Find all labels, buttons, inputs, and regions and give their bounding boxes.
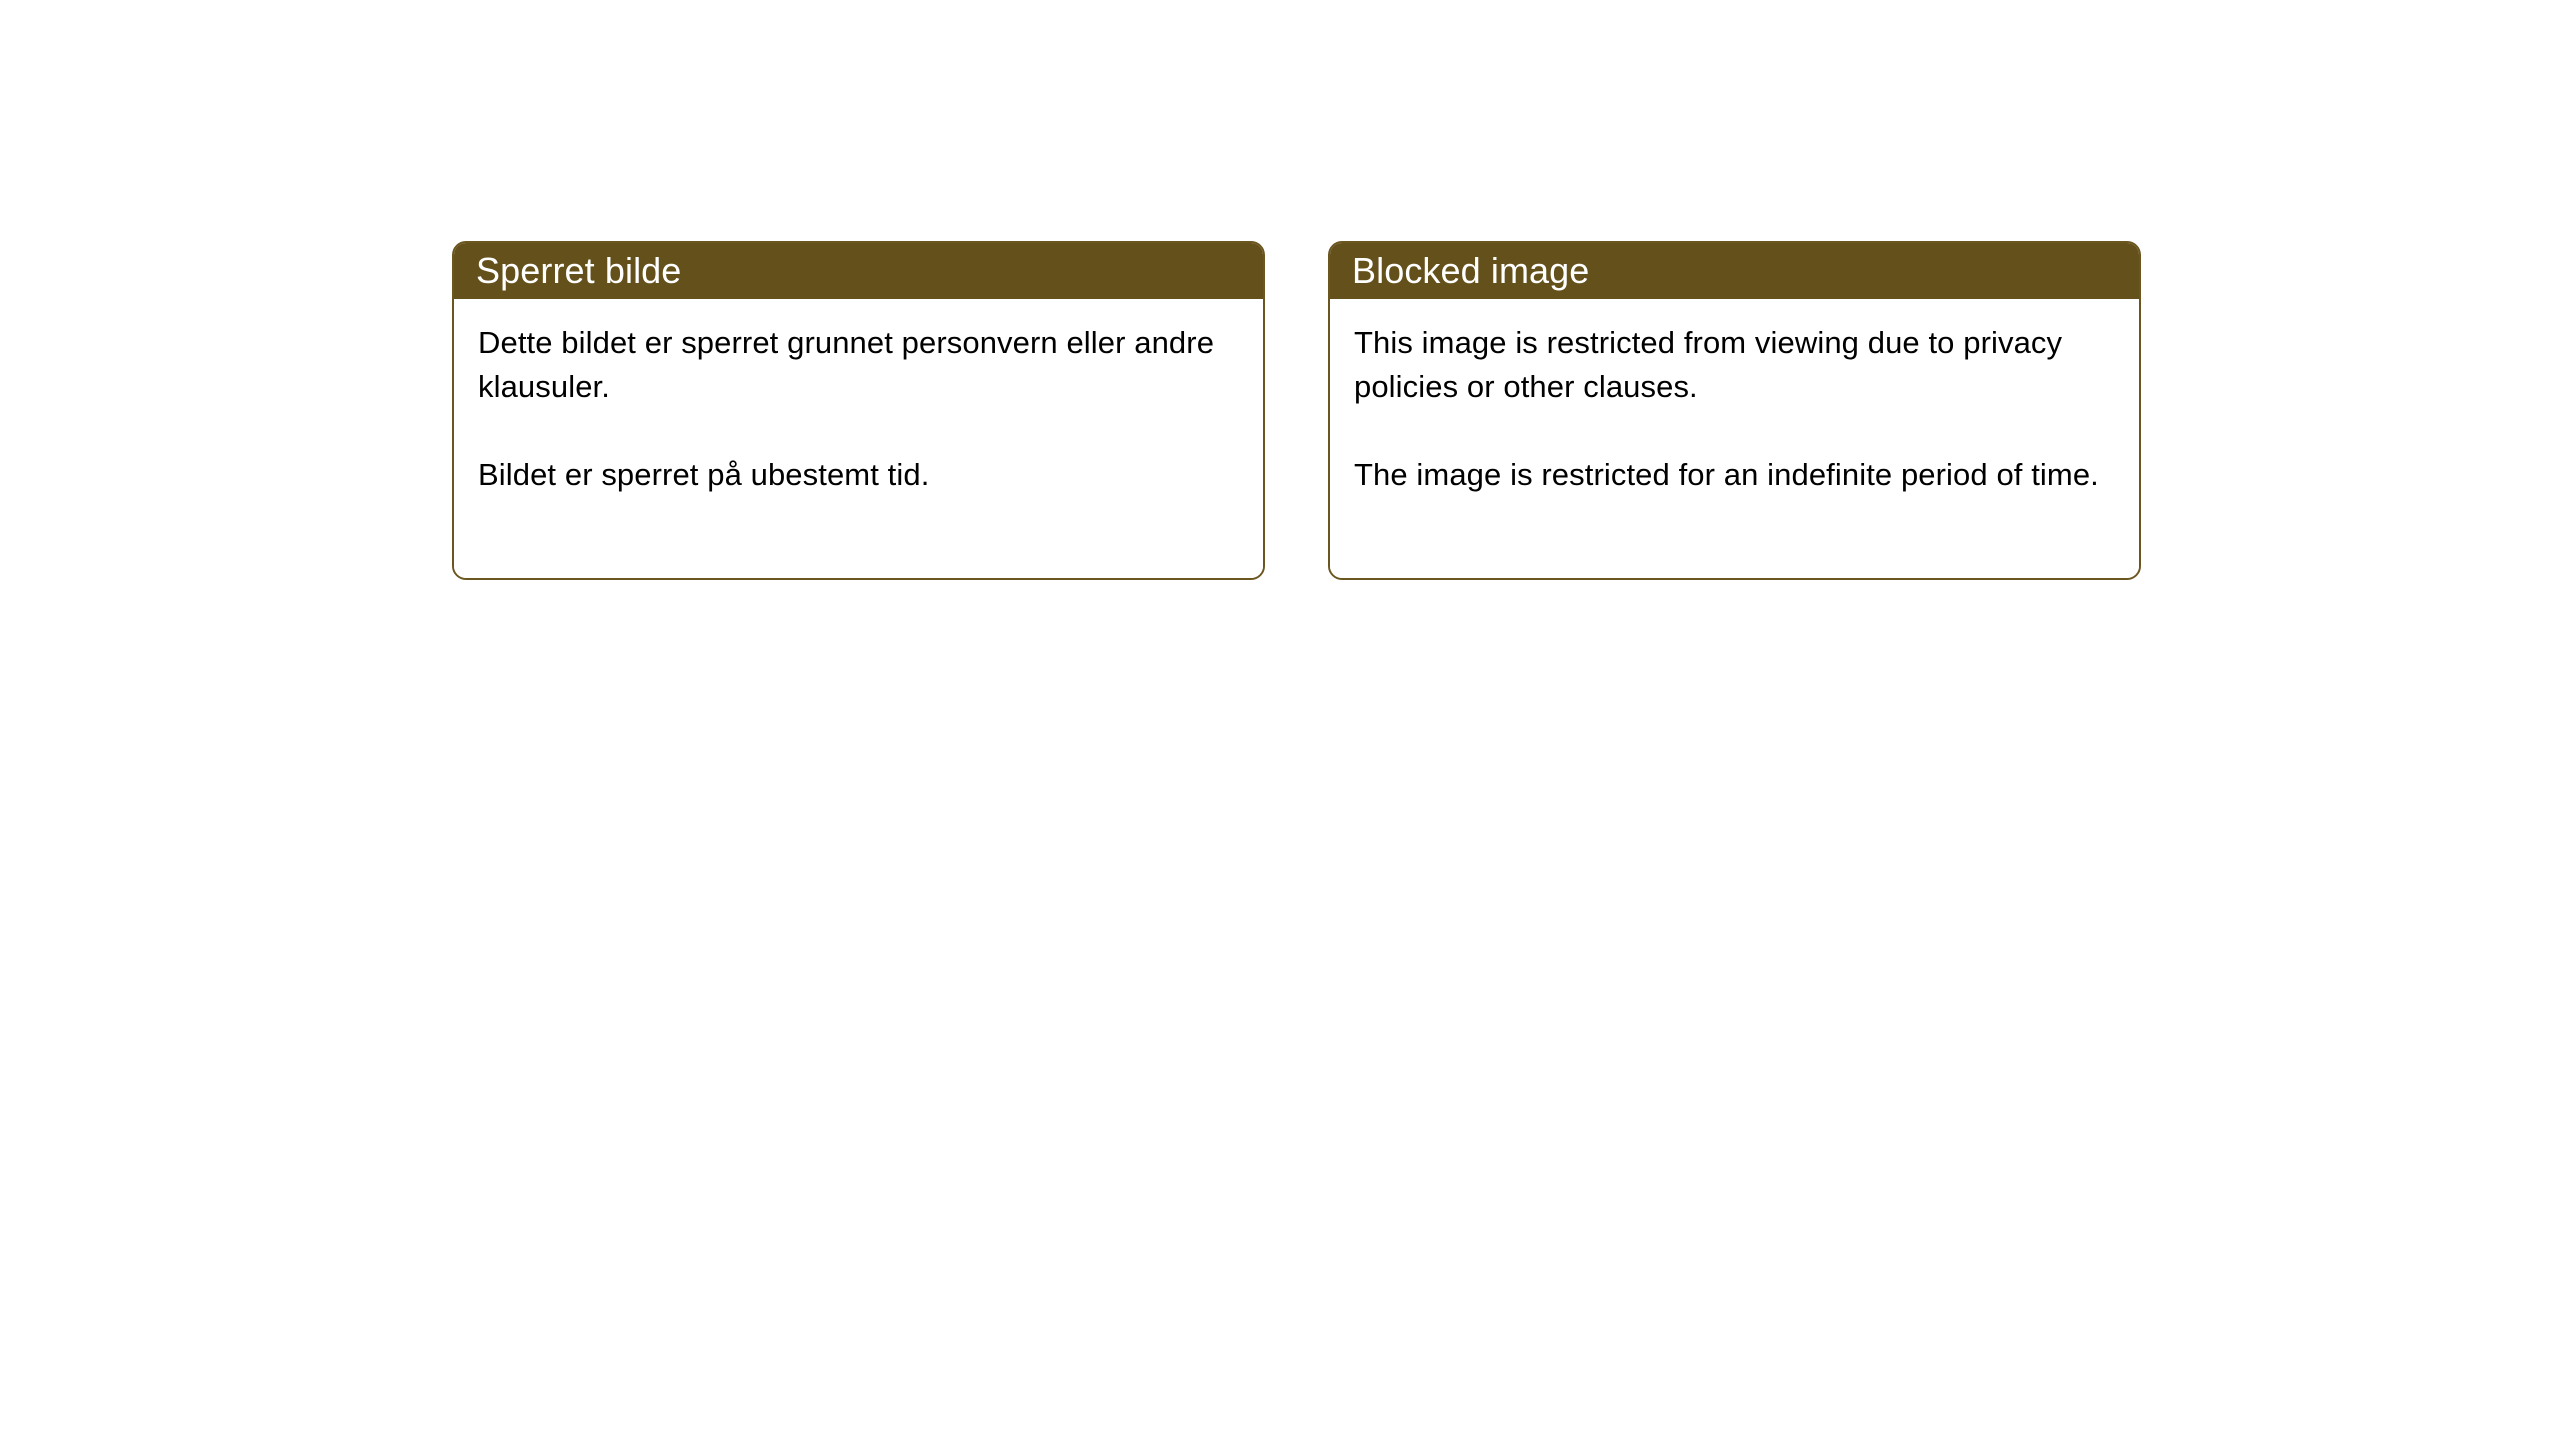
page-root: Sperret bilde Dette bildet er sperret gr… <box>0 0 2560 1440</box>
card-body-norwegian: Dette bildet er sperret grunnet personve… <box>454 299 1263 578</box>
blocked-image-notice-group: Sperret bilde Dette bildet er sperret gr… <box>452 241 2141 580</box>
card-paragraph-english-1: This image is restricted from viewing du… <box>1354 321 2115 409</box>
card-paragraph-english-2: The image is restricted for an indefinit… <box>1354 453 2115 497</box>
card-title-norwegian: Sperret bilde <box>476 251 681 291</box>
card-header-english: Blocked image <box>1330 243 2139 299</box>
card-paragraph-norwegian-1: Dette bildet er sperret grunnet personve… <box>478 321 1239 409</box>
card-title-english: Blocked image <box>1352 251 1589 291</box>
card-header-norwegian: Sperret bilde <box>454 243 1263 299</box>
card-body-english: This image is restricted from viewing du… <box>1330 299 2139 578</box>
blocked-image-card-norwegian: Sperret bilde Dette bildet er sperret gr… <box>452 241 1265 580</box>
blocked-image-card-english: Blocked image This image is restricted f… <box>1328 241 2141 580</box>
card-paragraph-norwegian-2: Bildet er sperret på ubestemt tid. <box>478 453 1239 497</box>
